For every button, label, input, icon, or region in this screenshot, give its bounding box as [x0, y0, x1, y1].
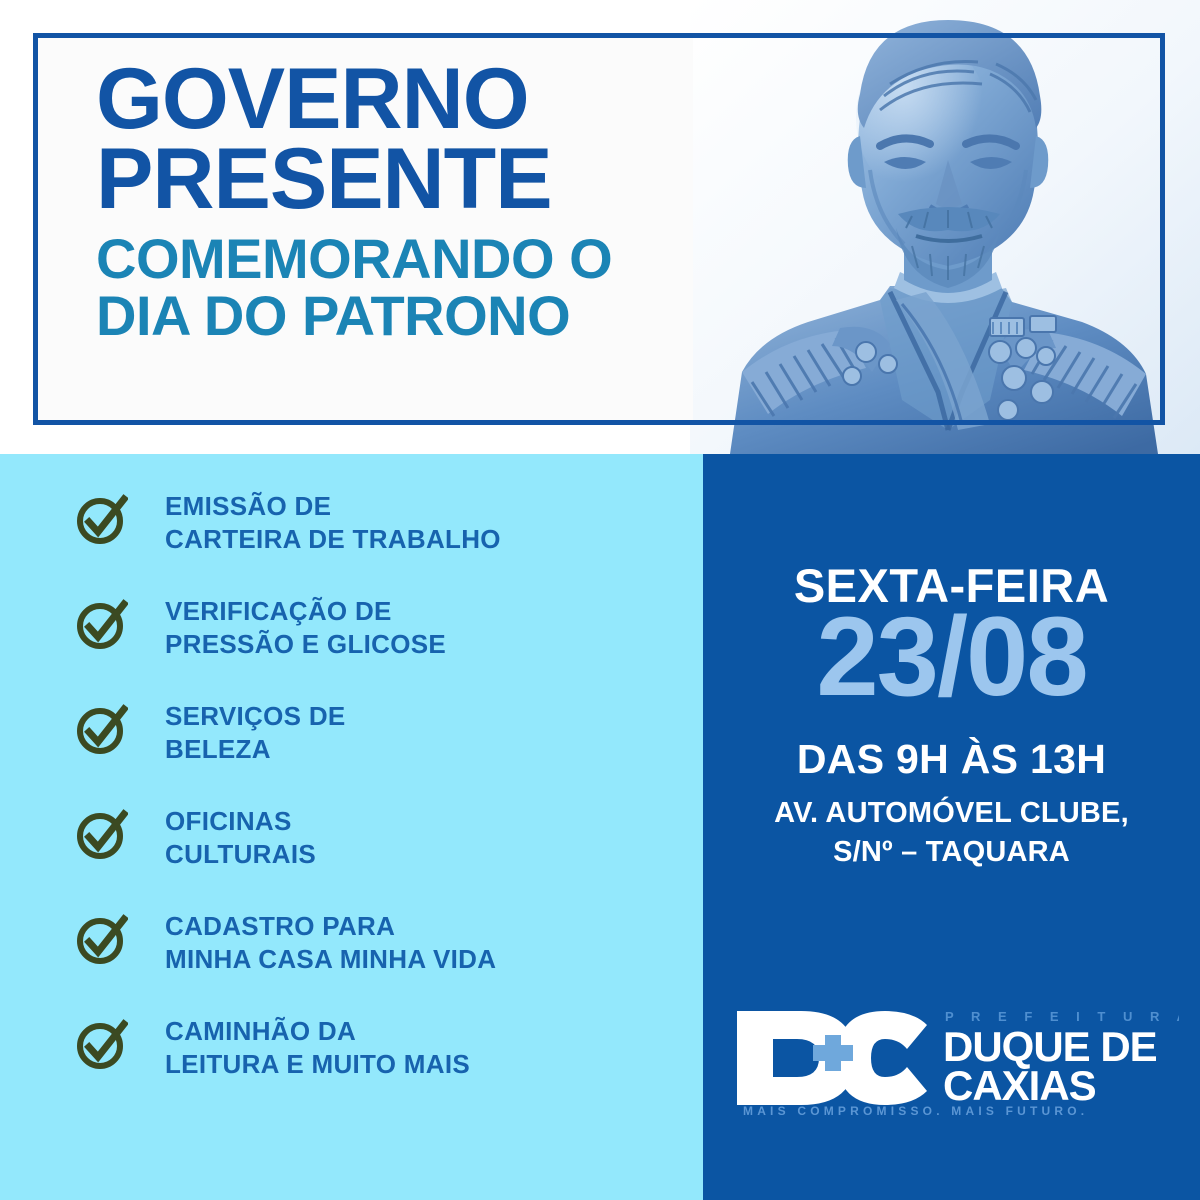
prefeitura-logo: P R E F E I T U R A DUQUE DE CAXIAS MAIS…	[727, 999, 1179, 1117]
list-item: VERIFICAÇÃO DE PRESSÃO E GLICOSE	[76, 595, 696, 700]
event-date: 23/08	[703, 592, 1200, 721]
list-item-label: CAMINHÃO DA LEITURA E MUITO MAIS	[165, 1015, 470, 1082]
list-item-line1: SERVIÇOS DE	[165, 700, 346, 733]
title-line-governo: GOVERNO	[96, 60, 696, 140]
event-hours: DAS 9H ÀS 13H	[703, 736, 1200, 783]
list-item: EMISSÃO DE CARTEIRA DE TRABALHO	[76, 490, 696, 595]
list-item-line2: CULTURAIS	[165, 838, 316, 871]
list-item: OFICINAS CULTURAIS	[76, 805, 696, 910]
list-item-label: VERIFICAÇÃO DE PRESSÃO E GLICOSE	[165, 595, 446, 662]
list-item: CADASTRO PARA MINHA CASA MINHA VIDA	[76, 910, 696, 1015]
title-block: GOVERNO PRESENTE COMEMORANDO O DIA DO PA…	[96, 60, 696, 344]
list-item-label: OFICINAS CULTURAIS	[165, 805, 316, 872]
services-list: EMISSÃO DE CARTEIRA DE TRABALHO VERIFICA…	[76, 490, 696, 1120]
event-panel: SEXTA-FEIRA 23/08 DAS 9H ÀS 13H AV. AUTO…	[703, 454, 1200, 1200]
check-circle-icon	[76, 1019, 128, 1071]
check-circle-icon	[76, 704, 128, 756]
subtitle-line-patrono: DIA DO PATRONO	[96, 287, 696, 344]
dc-monogram-glyph	[737, 1011, 927, 1105]
list-item-line1: CAMINHÃO DA	[165, 1015, 470, 1048]
list-item-line2: MINHA CASA MINHA VIDA	[165, 943, 496, 976]
list-item: CAMINHÃO DA LEITURA E MUITO MAIS	[76, 1015, 696, 1120]
logo-tagline: MAIS COMPROMISSO. MAIS FUTURO.	[743, 1104, 1088, 1117]
list-item-line1: EMISSÃO DE	[165, 490, 501, 523]
event-address-line1: AV. AUTOMÓVEL CLUBE,	[703, 794, 1200, 833]
list-item-line2: BELEZA	[165, 733, 346, 766]
list-item-line1: CADASTRO PARA	[165, 910, 496, 943]
check-circle-icon	[76, 809, 128, 861]
subtitle-line-comemorando: COMEMORANDO O	[96, 230, 696, 287]
logo-city-line2: CAXIAS	[943, 1062, 1096, 1109]
event-address: AV. AUTOMÓVEL CLUBE, S/Nº – TAQUARA	[703, 794, 1200, 871]
list-item: SERVIÇOS DE BELEZA	[76, 700, 696, 805]
list-item-line2: CARTEIRA DE TRABALHO	[165, 523, 501, 556]
services-panel: EMISSÃO DE CARTEIRA DE TRABALHO VERIFICA…	[0, 454, 703, 1200]
list-item-line2: LEITURA E MUITO MAIS	[165, 1048, 470, 1081]
logo-prefeitura-text: P R E F E I T U R A	[945, 1009, 1179, 1024]
list-item-label: EMISSÃO DE CARTEIRA DE TRABALHO	[165, 490, 501, 557]
list-item-line2: PRESSÃO E GLICOSE	[165, 628, 446, 661]
title-line-presente: PRESENTE	[96, 140, 696, 220]
check-circle-icon	[76, 914, 128, 966]
header-section: GOVERNO PRESENTE COMEMORANDO O DIA DO PA…	[0, 0, 1200, 454]
list-item-line1: VERIFICAÇÃO DE	[165, 595, 446, 628]
event-address-line2: S/Nº – TAQUARA	[703, 833, 1200, 872]
poster-root: GOVERNO PRESENTE COMEMORANDO O DIA DO PA…	[0, 0, 1200, 1200]
list-item-line1: OFICINAS	[165, 805, 316, 838]
list-item-label: SERVIÇOS DE BELEZA	[165, 700, 346, 767]
list-item-label: CADASTRO PARA MINHA CASA MINHA VIDA	[165, 910, 496, 977]
check-circle-icon	[76, 599, 128, 651]
check-circle-icon	[76, 494, 128, 546]
